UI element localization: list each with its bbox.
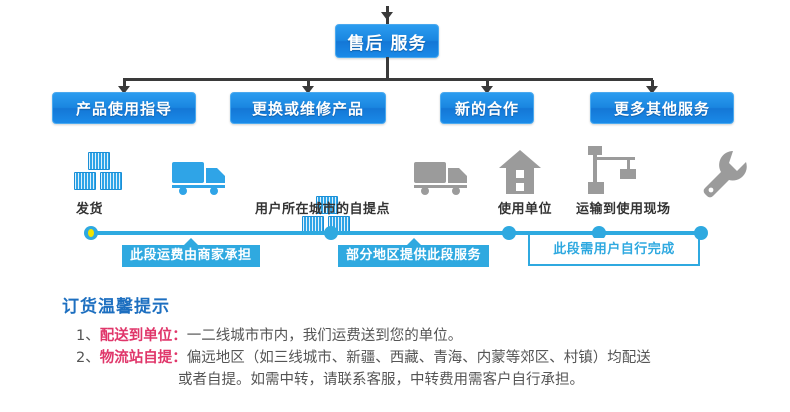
crane-icon [588, 146, 650, 200]
flow-node-root[interactable]: 售后 服务 [335, 24, 439, 58]
note-item-2: 2、 物流站自提： 偏远地区（如三线城市、新疆、西藏、青海、内蒙等郊区、村镇）均… [76, 347, 782, 369]
timeline-tag-merchant-pays: 此段运费由商家承担 [122, 245, 260, 267]
truck-icon [170, 156, 232, 200]
stage-label-pickup-point: 用户所在城市的自提点 [255, 198, 390, 217]
note-index: 1、 [76, 325, 100, 347]
flow-node-new-cooperation[interactable]: 新的合作 [440, 92, 534, 124]
note-item-1: 1、 配送到单位： 一二线城市市内，我们运费送到您的单位。 [76, 325, 782, 347]
container-stack-icon [70, 152, 126, 196]
note-item-2-continuation: 或者自提。如需中转，请联系客服，中转费用需客户自行承担。 [178, 369, 782, 391]
flow-node-more-services[interactable]: 更多其他服务 [590, 92, 734, 124]
timeline-tag-partial-service: 部分地区提供此段服务 [338, 245, 489, 267]
flow-node-product-guide[interactable]: 产品使用指导 [52, 92, 196, 124]
house-icon [497, 148, 543, 200]
stage-label-end-user: 使用单位 [498, 198, 552, 217]
note-body: 偏远地区（如三线城市、新疆、西藏、青海、内蒙等郊区、村镇）均配送 [187, 347, 651, 369]
stage-label-shipping: 发货 [76, 198, 103, 217]
flow-bus-line [123, 78, 653, 81]
note-key: 物流站自提： [100, 347, 187, 369]
timeline-dot-start [84, 226, 98, 240]
timeline-tag-nub-icon [184, 238, 198, 245]
truck-icon [412, 156, 474, 200]
timeline-tag-user-self: 此段需用户自行完成 [528, 234, 700, 266]
timeline-tag-nub-icon [407, 238, 421, 245]
service-flow-infographic: 售后 服务 产品使用指导 更换或维修产品 新的合作 更多其他服务 发货 用户所在… [0, 0, 790, 412]
flow-node-replace-repair[interactable]: 更换或维修产品 [230, 92, 386, 124]
note-body: 一二线城市市内，我们运费送到您的单位。 [187, 325, 463, 347]
note-index: 2、 [76, 347, 100, 369]
wrench-icon [700, 148, 750, 202]
timeline-dot-1 [324, 226, 338, 240]
note-key: 配送到单位： [100, 325, 187, 347]
notes-title: 订货温馨提示 [62, 292, 782, 317]
flow-arrow-root-icon [381, 12, 393, 20]
timeline-dot-2 [502, 226, 516, 240]
order-notes-section: 订货温馨提示 1、 配送到单位： 一二线城市市内，我们运费送到您的单位。 2、 … [62, 292, 782, 391]
stage-label-onsite-transport: 运输到使用现场 [576, 198, 671, 217]
flow-stem-down [386, 57, 389, 80]
